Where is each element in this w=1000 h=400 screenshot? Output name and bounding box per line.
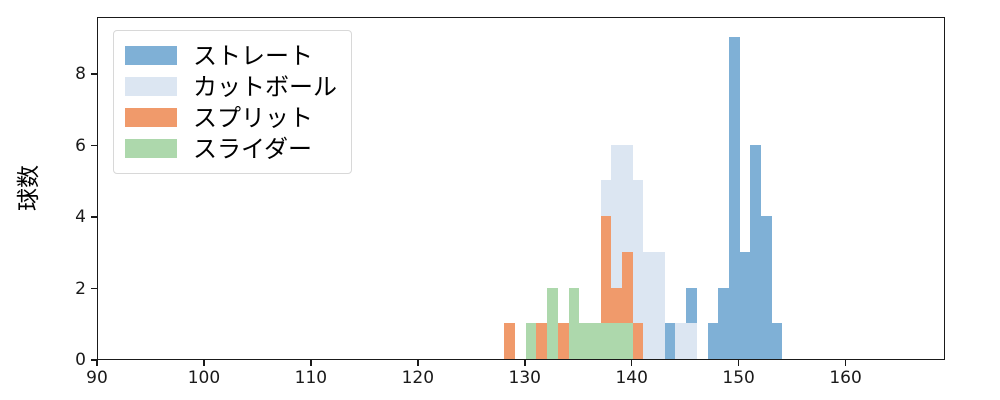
histogram-bar <box>740 252 751 359</box>
legend-label: ストレート <box>193 44 313 68</box>
x-tick-label: 160 <box>829 368 861 388</box>
y-tick-label: 6 <box>75 136 86 156</box>
x-tick-label: 100 <box>188 368 220 388</box>
legend-label: スプリット <box>193 106 313 130</box>
legend-swatch-icon <box>125 77 177 96</box>
x-tick-mark <box>524 360 526 366</box>
histogram-bar <box>558 323 569 359</box>
y-axis-title: 球数 <box>9 165 43 211</box>
histogram-bar <box>569 288 580 359</box>
histogram-bar <box>750 145 761 359</box>
legend-label: カットボール <box>193 75 337 99</box>
x-tick-label: 90 <box>86 368 108 388</box>
histogram-bar <box>643 252 654 359</box>
histogram-bar <box>729 37 740 359</box>
histogram-bar <box>633 323 644 359</box>
histogram-bar <box>665 323 676 359</box>
x-tick-mark <box>738 360 740 366</box>
y-tick-mark <box>91 73 97 75</box>
legend-item[interactable]: スプリット <box>125 102 337 133</box>
histogram-figure: 9010011012013014015016002468 球数 ストレートカット… <box>0 0 1000 400</box>
legend-label: スライダー <box>193 137 312 161</box>
x-tick-label: 150 <box>722 368 754 388</box>
y-tick-mark <box>91 359 97 361</box>
y-tick-mark <box>91 288 97 290</box>
y-tick-label: 0 <box>75 350 86 370</box>
x-tick-label: 120 <box>402 368 434 388</box>
y-tick-label: 4 <box>75 207 86 227</box>
x-tick-label: 110 <box>295 368 327 388</box>
y-tick-label: 8 <box>75 64 86 84</box>
legend-swatch-icon <box>125 108 177 127</box>
histogram-bar <box>601 323 612 359</box>
histogram-bar <box>504 323 515 359</box>
histogram-bar <box>675 323 686 359</box>
histogram-bar <box>718 288 729 359</box>
legend-swatch-icon <box>125 46 177 65</box>
histogram-bar <box>536 323 547 359</box>
y-tick-mark <box>91 145 97 147</box>
x-tick-mark <box>417 360 419 366</box>
histogram-bar <box>761 216 772 359</box>
y-tick-mark <box>91 216 97 218</box>
histogram-bar <box>686 323 697 359</box>
histogram-bar <box>547 288 558 359</box>
legend-swatch-icon <box>125 139 177 158</box>
x-tick-mark <box>631 360 633 366</box>
legend-item[interactable]: スライダー <box>125 133 337 164</box>
histogram-bar <box>579 323 590 359</box>
legend-item[interactable]: カットボール <box>125 71 337 102</box>
x-tick-mark <box>203 360 205 366</box>
histogram-bar <box>622 323 633 359</box>
legend-item[interactable]: ストレート <box>125 40 337 71</box>
x-tick-mark <box>96 360 98 366</box>
histogram-bar <box>654 252 665 359</box>
histogram-bar <box>772 323 783 359</box>
histogram-bar <box>590 323 601 359</box>
histogram-bar <box>708 323 719 359</box>
x-tick-label: 140 <box>615 368 647 388</box>
x-tick-mark <box>310 360 312 366</box>
legend: ストレートカットボールスプリットスライダー <box>113 30 352 174</box>
x-tick-label: 130 <box>509 368 541 388</box>
histogram-bar <box>611 323 622 359</box>
histogram-bar <box>526 323 537 359</box>
x-tick-mark <box>845 360 847 366</box>
y-tick-label: 2 <box>75 279 86 299</box>
